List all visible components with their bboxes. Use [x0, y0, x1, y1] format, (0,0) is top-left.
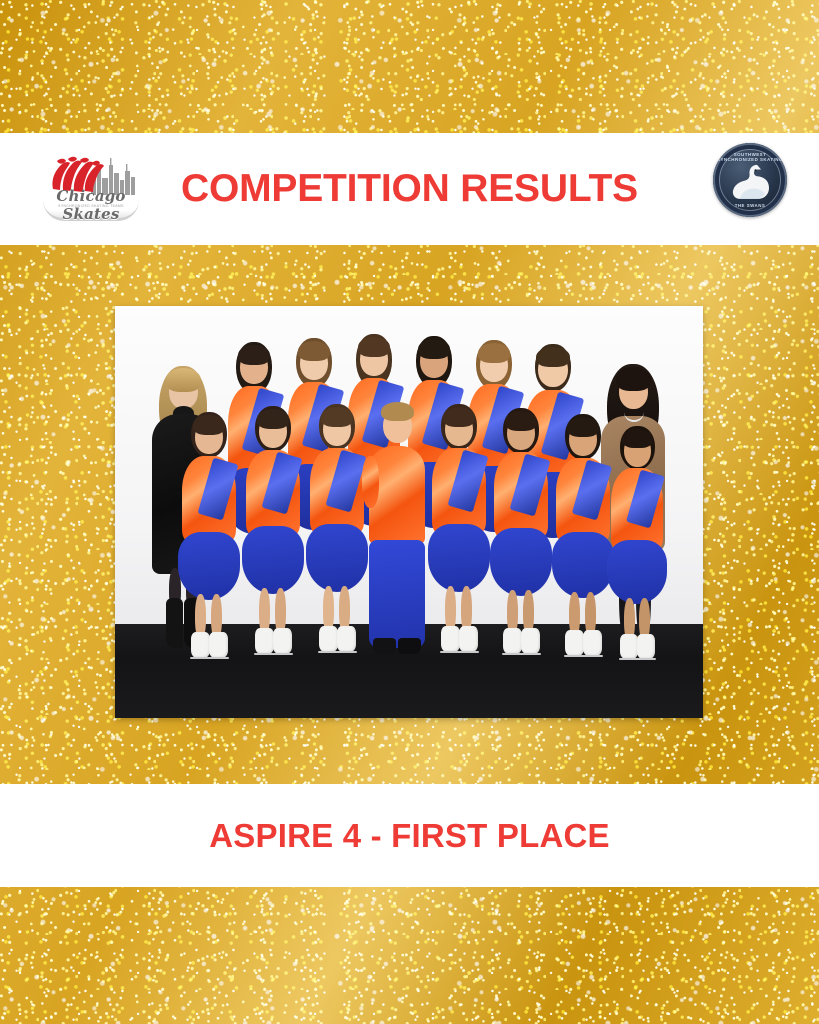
footer-content: ASPIRE 4 - FIRST PLACE [0, 784, 819, 887]
coach-right-hair [616, 367, 651, 391]
skater-back-5-hair [478, 343, 510, 363]
skater-front-8 [607, 424, 669, 664]
skater-front-2-skate-2 [273, 628, 292, 654]
skater-front-8-hair [622, 429, 653, 448]
skater-back-3-hair [358, 337, 390, 357]
header-content: Chicago Skates SYNCHRONIZED SKATING TEAM… [0, 133, 819, 245]
skater-front-7-skate-1 [565, 630, 584, 656]
skater-front-2-skirt [242, 526, 304, 594]
skater-front-1-skirt [178, 532, 240, 600]
page-title: COMPETITION RESULTS [0, 167, 819, 211]
skater-front-4-boot-2 [398, 638, 421, 654]
skater-front-7-blade-2 [582, 655, 603, 657]
skater-front-7-skate-2 [583, 630, 602, 656]
skater-front-4-pants [369, 540, 425, 648]
skater-front-6-hair [505, 411, 537, 431]
skater-front-8-blade-2 [636, 658, 656, 660]
swan-icon [727, 160, 773, 202]
skater-front-3-skirt [306, 524, 368, 592]
skater-front-5-blade-2 [458, 651, 479, 653]
result-title: ASPIRE 4 - FIRST PLACE [209, 817, 609, 855]
skater-front-2-skate-1 [255, 628, 274, 654]
skater-front-8-skate-1 [620, 634, 638, 659]
skater-front-5-hair [443, 407, 475, 427]
team-photo [115, 306, 703, 718]
skater-front-6-skirt [490, 528, 552, 596]
skater-front-6-blade-2 [520, 653, 541, 655]
skater-front-5-skirt [428, 524, 490, 592]
skater-front-1-hair [193, 415, 225, 435]
skater-front-2-blade-2 [272, 653, 293, 655]
skater-front-1-blade-2 [208, 657, 229, 659]
skater-front-4-hair [381, 402, 414, 421]
skater-front-3 [305, 402, 369, 662]
header-band: Chicago Skates SYNCHRONIZED SKATING TEAM… [0, 133, 819, 245]
skater-front-7 [551, 412, 615, 662]
skater-back-6-hair [536, 347, 570, 367]
skater-front-3-skate-1 [319, 626, 338, 652]
skater-front-7-hair [567, 417, 599, 437]
skater-front-5-skate-2 [459, 626, 478, 652]
skater-front-1 [177, 410, 241, 664]
swan-seal-logo: SOUTHWEST SYNCHRONIZED SKATING THE SWANS [713, 143, 787, 217]
skater-front-1-skate-2 [209, 632, 228, 658]
skater-front-2 [241, 404, 305, 662]
skater-front-5-skate-1 [441, 626, 460, 652]
skater-front-8-skirt [607, 540, 667, 604]
skater-front-2-hair [257, 409, 289, 429]
seal-ring-text-bottom: THE SWANS [713, 203, 787, 208]
skater-back-2-hair [298, 341, 330, 361]
footer-band: ASPIRE 4 - FIRST PLACE [0, 784, 819, 887]
skater-front-4-boot-1 [373, 638, 396, 654]
skater-front-7-skirt [552, 532, 614, 598]
skater-front-1-skate-1 [191, 632, 210, 658]
skater-front-3-skate-2 [337, 626, 356, 652]
skater-front-3-hair [321, 407, 353, 427]
skater-front-3-blade-2 [336, 651, 357, 653]
skater-back-4-hair [418, 339, 450, 359]
skater-front-6-skate-1 [503, 628, 522, 654]
coach-left-hair [166, 368, 201, 392]
skater-front-4-arm [362, 456, 379, 508]
skater-front-5 [427, 402, 491, 662]
skater-back-1-hair [238, 345, 270, 365]
skater-front-6 [489, 406, 553, 662]
skater-front-8-skate-2 [637, 634, 655, 659]
skater-front-4-male [363, 398, 431, 666]
skater-front-6-skate-2 [521, 628, 540, 654]
